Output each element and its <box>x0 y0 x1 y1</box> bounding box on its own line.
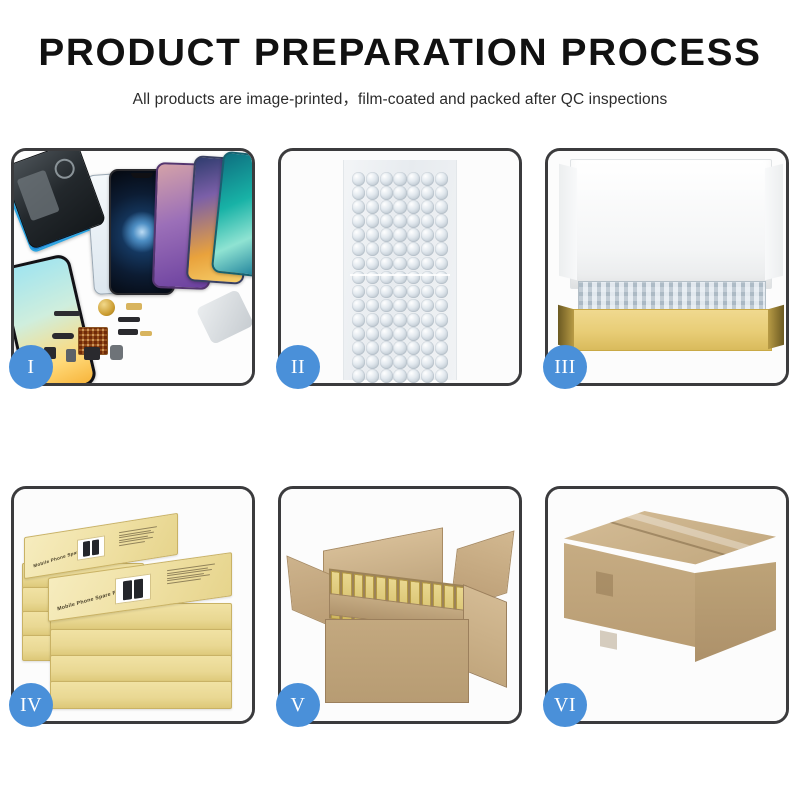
gold-contact-icon <box>140 331 152 336</box>
carton-side-face <box>463 584 507 688</box>
page-header: PRODUCT PREPARATION PROCESS All products… <box>0 0 800 109</box>
step-badge-2: II <box>276 345 320 389</box>
carton-right-face <box>695 562 776 662</box>
connector-component-icon <box>52 333 74 339</box>
speaker-component-icon <box>66 349 76 362</box>
battery-strip-component-icon <box>54 311 80 316</box>
open-shipping-carton-icon <box>295 515 509 707</box>
process-steps-grid: I <box>11 148 789 724</box>
step-badge-3: III <box>543 345 587 389</box>
ribbon-cable-icon <box>118 329 138 335</box>
step-panel-1: I <box>11 148 255 386</box>
step-4-image: Mobile Phone Spare Parts Mobile Phone Sp… <box>14 489 252 721</box>
carton-flap-tab-upper <box>596 571 613 597</box>
repair-tool-icon <box>196 289 252 345</box>
flex-cable-component-icon <box>118 317 140 322</box>
page-subtitle: All products are image-printed，film-coat… <box>0 87 800 109</box>
sealed-shipping-carton-icon <box>564 511 776 705</box>
step-panel-3: III <box>545 148 789 386</box>
step-1-image <box>14 151 252 383</box>
bubble-wrap-pouch-icon <box>343 160 457 380</box>
step-badge-6: VI <box>543 683 587 727</box>
step-3-image <box>548 151 786 383</box>
step-panel-5: V <box>278 486 522 724</box>
step-badge-1: I <box>9 345 53 389</box>
gold-flex-connector-icon <box>126 303 142 310</box>
carton-front-face <box>325 619 469 703</box>
vibrator-component-icon <box>110 345 123 360</box>
product-preparation-process-page: PRODUCT PREPARATION PROCESS All products… <box>0 0 800 800</box>
camera-module-icon <box>84 347 100 360</box>
kraft-box-body-icon <box>570 309 772 351</box>
open-box-lid-icon <box>570 159 772 289</box>
gold-coil-component-icon <box>98 299 115 316</box>
step-badge-4: IV <box>9 683 53 727</box>
step-panel-2: II <box>278 148 522 386</box>
step-panel-6: VI <box>545 486 789 724</box>
step-panel-4: Mobile Phone Spare Parts Mobile Phone Sp… <box>11 486 255 724</box>
step-badge-5: V <box>276 683 320 727</box>
step-2-image <box>281 151 519 383</box>
pouch-seal-line <box>350 274 450 276</box>
page-title: PRODUCT PREPARATION PROCESS <box>0 34 800 72</box>
box-stack-icon: Mobile Phone Spare Parts Mobile Phone Sp… <box>22 507 246 717</box>
bubble-grid <box>352 172 448 370</box>
step-6-image <box>548 489 786 721</box>
step-5-image <box>281 489 519 721</box>
carton-flap-tab-lower <box>600 630 617 650</box>
phone-notch-icon <box>131 173 153 178</box>
